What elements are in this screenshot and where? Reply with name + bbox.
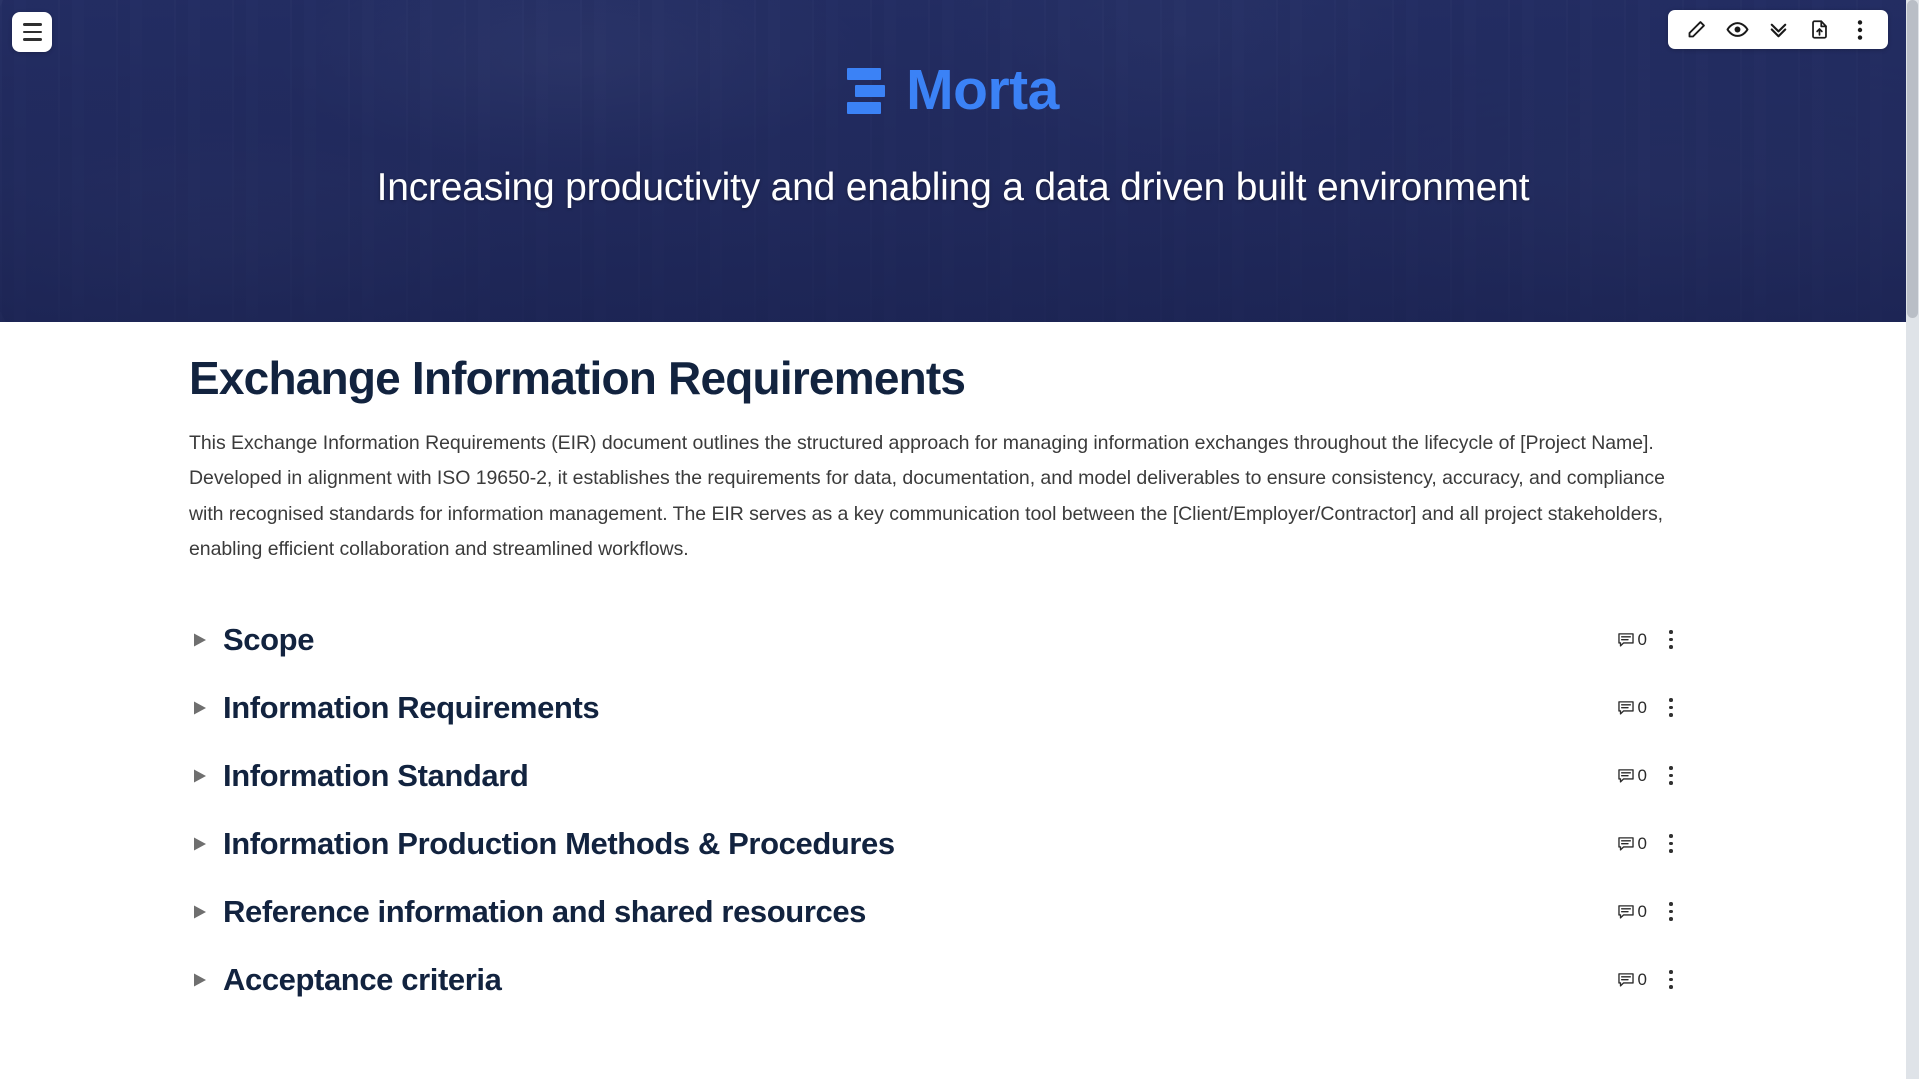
document-toolbar — [1668, 10, 1888, 49]
section-row: Reference information and shared resourc… — [189, 878, 1705, 946]
comment-count: 0 — [1638, 699, 1647, 716]
section-row: Scope0 — [189, 606, 1705, 674]
section-title[interactable]: Information Standard — [219, 757, 1617, 794]
section-more-options-icon[interactable] — [1663, 967, 1679, 993]
section-title[interactable]: Acceptance criteria — [219, 961, 1617, 998]
app-root: Morta Increasing productivity and enabli… — [0, 0, 1919, 1079]
section-expand-icon[interactable] — [193, 972, 219, 988]
comment-icon — [1617, 835, 1635, 853]
scrollbar-thumb[interactable] — [1907, 0, 1918, 318]
document-banner: Morta Increasing productivity and enabli… — [0, 0, 1906, 322]
banner-content: Morta Increasing productivity and enabli… — [0, 0, 1906, 322]
comment-count-button[interactable]: 0 — [1617, 767, 1647, 785]
document-intro-paragraph: This Exchange Information Requirements (… — [189, 426, 1679, 568]
section-more-options-icon[interactable] — [1663, 627, 1679, 653]
section-title[interactable]: Information Requirements — [219, 689, 1617, 726]
section-expand-icon[interactable] — [193, 768, 219, 784]
hamburger-bar-1 — [23, 23, 42, 26]
comment-count: 0 — [1638, 971, 1647, 988]
comment-icon — [1617, 971, 1635, 989]
section-more-options-icon[interactable] — [1663, 695, 1679, 721]
section-title[interactable]: Scope — [219, 621, 1617, 658]
comment-count-button[interactable]: 0 — [1617, 835, 1647, 853]
section-title[interactable]: Information Production Methods & Procedu… — [219, 825, 1617, 862]
export-document-icon — [1809, 19, 1830, 40]
section-tools: 0 — [1617, 967, 1679, 993]
comment-count-button[interactable]: 0 — [1617, 971, 1647, 989]
document-sections: Scope0Information Requirements0Informati… — [189, 606, 1705, 1014]
section-row: Information Requirements0 — [189, 674, 1705, 742]
section-more-options-icon[interactable] — [1663, 899, 1679, 925]
section-row: Acceptance criteria0 — [189, 946, 1705, 1014]
export-document-button[interactable] — [1800, 13, 1838, 46]
edit-icon — [1686, 19, 1707, 40]
comment-count-button[interactable]: 0 — [1617, 903, 1647, 921]
collapse-all-icon — [1767, 18, 1790, 41]
preview-button[interactable] — [1718, 13, 1756, 46]
comment-count-button[interactable]: 0 — [1617, 631, 1647, 649]
comment-icon — [1617, 631, 1635, 649]
vertical-scrollbar[interactable] — [1906, 0, 1919, 1079]
section-tools: 0 — [1617, 695, 1679, 721]
hamburger-bar-3 — [23, 38, 42, 41]
section-more-options-icon[interactable] — [1663, 831, 1679, 857]
hamburger-menu-icon[interactable] — [12, 12, 52, 52]
morta-logo-icon — [847, 68, 885, 114]
comment-count: 0 — [1638, 903, 1647, 920]
preview-icon — [1726, 18, 1749, 41]
page-title: Exchange Information Requirements — [189, 353, 1705, 405]
more-options-button[interactable] — [1841, 13, 1879, 46]
section-more-options-icon[interactable] — [1663, 763, 1679, 789]
section-expand-icon[interactable] — [193, 700, 219, 716]
banner-tagline: Increasing productivity and enabling a d… — [377, 166, 1530, 210]
section-tools: 0 — [1617, 627, 1679, 653]
edit-button[interactable] — [1677, 13, 1715, 46]
comment-icon — [1617, 699, 1635, 717]
morta-logo-text: Morta — [906, 62, 1059, 119]
collapse-all-button[interactable] — [1759, 13, 1797, 46]
section-expand-icon[interactable] — [193, 836, 219, 852]
morta-logo: Morta — [847, 62, 1059, 119]
section-tools: 0 — [1617, 831, 1679, 857]
comment-icon — [1617, 767, 1635, 785]
section-tools: 0 — [1617, 763, 1679, 789]
more-options-icon — [1857, 19, 1863, 41]
document-body: Exchange Information Requirements This E… — [0, 322, 1906, 1079]
comment-count-button[interactable]: 0 — [1617, 699, 1647, 717]
section-title[interactable]: Reference information and shared resourc… — [219, 893, 1617, 930]
section-row: Information Standard0 — [189, 742, 1705, 810]
section-expand-icon[interactable] — [193, 904, 219, 920]
document-content: Exchange Information Requirements This E… — [189, 322, 1705, 1014]
section-row: Information Production Methods & Procedu… — [189, 810, 1705, 878]
hamburger-bar-2 — [23, 31, 42, 34]
comment-count: 0 — [1638, 767, 1647, 784]
comment-icon — [1617, 903, 1635, 921]
section-tools: 0 — [1617, 899, 1679, 925]
comment-count: 0 — [1638, 631, 1647, 648]
comment-count: 0 — [1638, 835, 1647, 852]
section-expand-icon[interactable] — [193, 632, 219, 648]
